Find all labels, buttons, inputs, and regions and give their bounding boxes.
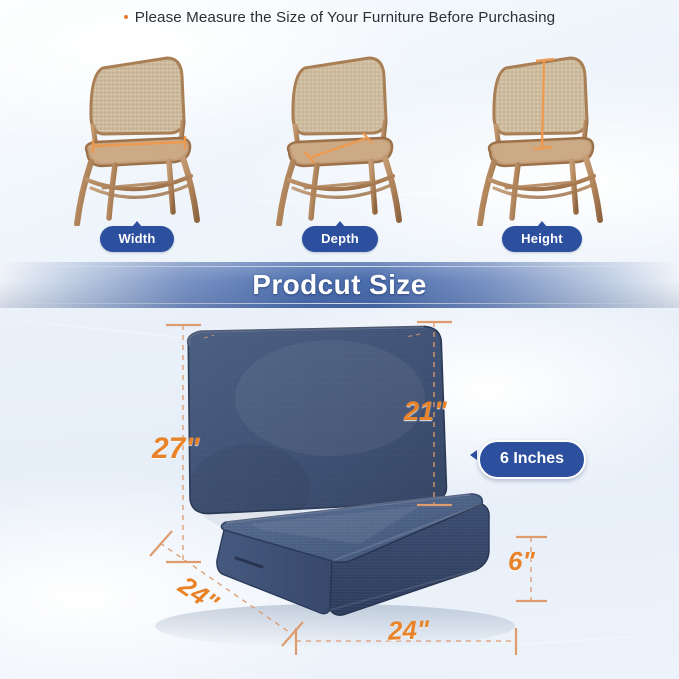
chair-label-depth: Depth [302, 226, 378, 252]
dimension-label-seat-width: 24" [387, 614, 429, 646]
chair-illustration-width [63, 46, 213, 226]
cushion-illustration [0, 308, 679, 679]
bullet-dot-icon [124, 15, 128, 19]
chair-icon [466, 46, 616, 226]
chair-label-width: Width [100, 226, 174, 252]
headline-text: Please Measure the Size of Your Furnitur… [135, 9, 555, 26]
chair-icon [63, 46, 213, 226]
banner-title: Prodcut Size [0, 262, 679, 308]
dimension-label-seat-thickness: 6" [508, 546, 535, 577]
chair-illustration-depth [265, 46, 415, 226]
section-banner: Prodcut Size [0, 262, 679, 308]
dimension-label-back-height: 27" [152, 432, 200, 466]
chair-icon [265, 46, 415, 226]
headline: Please Measure the Size of Your Furnitur… [0, 9, 679, 26]
chair-illustration-height [466, 46, 616, 226]
chair-label-height: Height [502, 226, 582, 252]
dimension-label-back-panel-height: 21" [404, 396, 447, 427]
pointer-triangle-icon [470, 450, 477, 460]
cushion-product-image [0, 308, 679, 679]
product-size-infographic: Please Measure the Size of Your Furnitur… [0, 0, 679, 679]
callout-6-inches: 6 Inches [478, 440, 586, 479]
